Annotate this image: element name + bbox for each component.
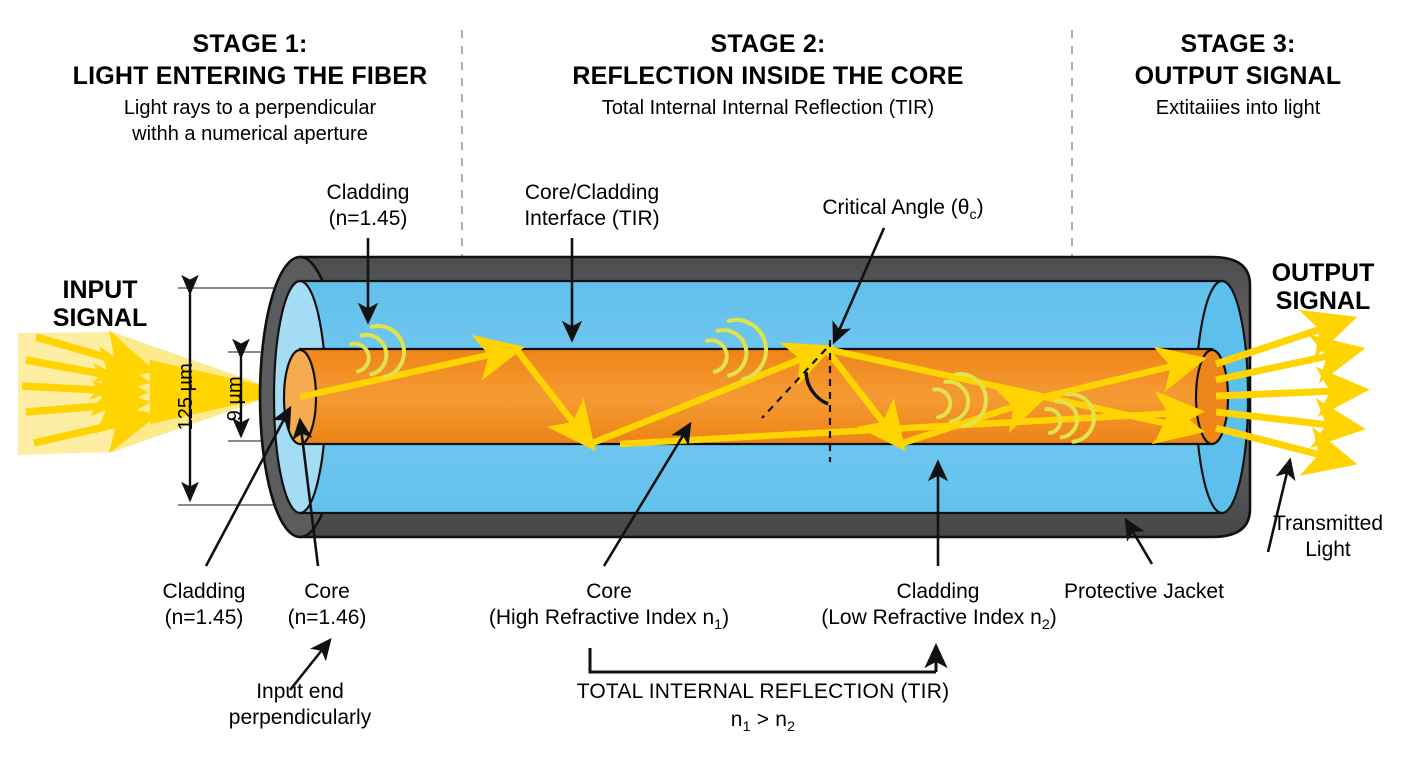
tir-bracket <box>590 646 936 672</box>
callout-protective-jacket: Protective Jacket <box>1064 580 1304 605</box>
core-layer <box>284 349 1228 444</box>
stage-2-caption-line1: Total Internal Internal Reflection (TIR) <box>470 97 1066 121</box>
tir-label: TOTAL INTERNAL REFLECTION (TIR) <box>500 680 1026 705</box>
callout-core-bottom-line1: Core <box>252 580 402 605</box>
dimension-125um-label: 125 µm <box>175 342 199 452</box>
stage-1-caption-line2: withh a numerical aperture <box>20 123 480 147</box>
critical-angle-subscript: c <box>969 207 976 223</box>
dimension-9um-label: 9 µm <box>224 353 248 445</box>
tir-n1: n <box>731 708 743 731</box>
callout-interface-line2: Interface (TIR) <box>472 207 712 232</box>
critical-angle-close: ) <box>977 196 984 219</box>
callout-cladding-top-line1: Cladding <box>278 181 458 206</box>
cladding-low-index-text: (Low Refractive Index n <box>821 606 1042 629</box>
core-high-index-text: (High Refractive Index n <box>489 606 714 629</box>
stage-2-heading: STAGE 2: <box>470 30 1066 60</box>
stage-2-subheading: REFLECTION INSIDE THE CORE <box>470 62 1066 92</box>
callout-cladding-top-line2: (n=1.45) <box>278 207 458 232</box>
input-signal-line1: INPUT <box>20 275 180 305</box>
stage-1-subheading: LIGHT ENTERING THE FIBER <box>20 62 480 92</box>
callout-critical-angle: Critical Angle (θc) <box>768 196 1038 224</box>
stage-1-caption-line1: Light rays to a perpendicular <box>20 97 480 121</box>
stage-3-subheading: OUTPUT SIGNAL <box>1080 62 1396 92</box>
core-high-index-subscript: 1 <box>714 617 722 633</box>
callout-input-end-line2: perpendicularly <box>180 706 420 731</box>
cladding-low-index-subscript: 2 <box>1042 617 1050 633</box>
callout-cladding-low-index-line2: (Low Refractive Index n2) <box>790 606 1088 634</box>
callout-transmitted-line2: Light <box>1248 538 1408 563</box>
input-signal-line2: SIGNAL <box>20 303 180 333</box>
tir-bracket-path <box>590 648 936 672</box>
callout-core-bottom-line2: (n=1.46) <box>252 606 402 631</box>
stage-1-heading: STAGE 1: <box>40 30 460 60</box>
callout-cladding-low-index-line1: Cladding <box>852 580 1024 605</box>
callout-interface-line1: Core/Cladding <box>472 181 712 206</box>
callout-input-end-line1: Input end <box>196 680 404 705</box>
tir-inequality: n1 > n2 <box>500 708 1026 736</box>
callout-transmitted-line1: Transmitted <box>1248 512 1408 537</box>
callout-core-high-index-line1: Core <box>480 580 738 605</box>
output-signal-line2: SIGNAL <box>1248 286 1398 316</box>
output-signal-line1: OUTPUT <box>1248 258 1398 288</box>
callout-core-high-index-line2: (High Refractive Index n1) <box>458 606 760 634</box>
stage-3-caption-line1: Extitaiiies into light <box>1080 97 1396 121</box>
tir-operator: > n <box>751 708 787 731</box>
cladding-low-index-close: ) <box>1050 606 1057 629</box>
tir-n2-sub: 2 <box>787 719 795 735</box>
core-high-index-close: ) <box>722 606 729 629</box>
critical-angle-text: Critical Angle (θ <box>822 196 969 219</box>
stage-3-heading: STAGE 3: <box>1080 30 1396 60</box>
tir-n1-sub: 1 <box>743 719 751 735</box>
